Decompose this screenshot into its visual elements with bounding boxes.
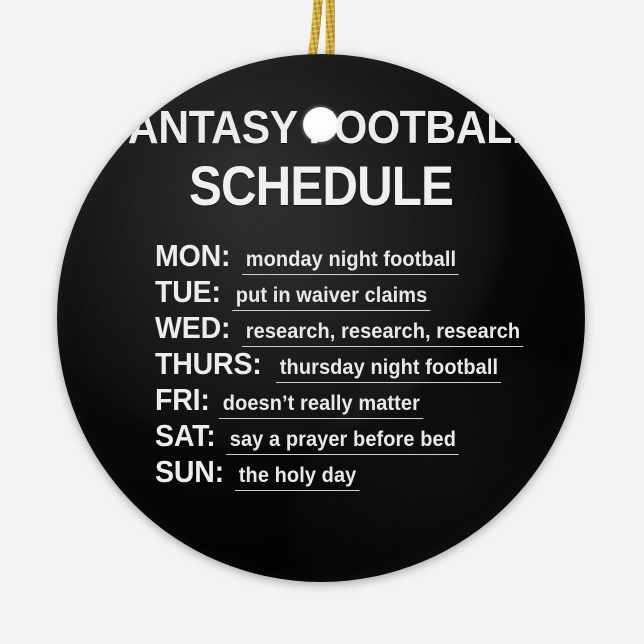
schedule-day-label: MON: [155,240,230,271]
schedule-row: TUE: put in waiver claims [155,276,555,312]
schedule-day-text: the holy day [235,465,359,491]
schedule-row: THURS: thursday night football [155,348,555,384]
schedule-day-label: THURS: [155,348,262,379]
schedule-row: SUN: the holy day [155,456,555,492]
ornament-hanger-hole [303,107,338,142]
schedule-row: WED: research, research, research [155,312,555,348]
schedule-row: MON: monday night football [155,240,555,276]
schedule-day-label: SAT: [155,420,216,451]
schedule-day-text: doesn’t really matter [219,393,423,419]
schedule-day-label: FRI: [155,384,210,415]
schedule-row: SAT: say a prayer before bed [155,420,555,456]
schedule-row: FRI: doesn’t really matter [155,384,555,420]
schedule-list: MON: monday night football TUE: put in w… [155,240,555,492]
schedule-day-text: thursday night football [276,357,501,383]
design-title-line-2: SCHEDULE [89,158,554,214]
schedule-day-label: TUE: [155,276,221,307]
schedule-day-text: research, research, research [242,321,523,347]
product-photo: FANTASY FOOTBALL SCHEDULE MON: monday ni… [0,0,644,644]
schedule-day-text: monday night football [242,249,459,275]
schedule-day-text: say a prayer before bed [226,429,459,455]
schedule-day-label: WED: [155,312,230,343]
schedule-day-label: SUN: [155,456,224,487]
schedule-day-text: put in waiver claims [232,285,430,311]
